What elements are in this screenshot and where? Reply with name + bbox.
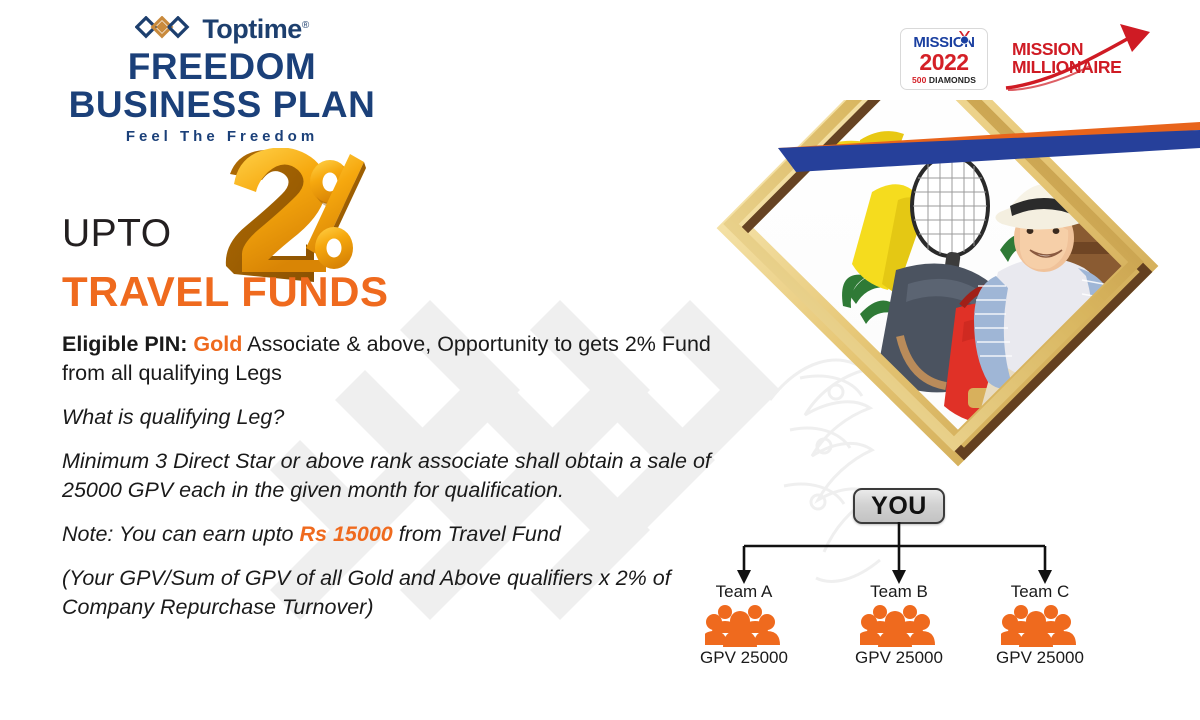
registered-mark: ® bbox=[302, 20, 309, 31]
mission-2022-year: 2022 bbox=[919, 50, 968, 74]
mm-line1: MISSION bbox=[1012, 40, 1121, 58]
eligible-pin-value: Gold bbox=[193, 332, 242, 356]
qualifying-leg-question: What is qualifying Leg? bbox=[62, 403, 742, 432]
toptime-diamonds-icon bbox=[135, 16, 197, 42]
plan-title-line2: BUSINESS PLAN bbox=[52, 86, 392, 123]
tree-node-team-a: Team A GPV 25000 bbox=[679, 583, 809, 666]
toptime-wordmark: Toptime® bbox=[202, 16, 308, 43]
earnings-note: Note: You can earn upto Rs 15000 from Tr… bbox=[62, 520, 742, 549]
team-group-icon bbox=[1001, 603, 1079, 647]
travel-photo-graphic bbox=[700, 100, 1200, 530]
downline-tree: YOU Team A bbox=[700, 488, 1120, 678]
qualification-rule: Minimum 3 Direct Star or above rank asso… bbox=[62, 447, 742, 505]
body-copy: Eligible PIN: Gold Associate & above, Op… bbox=[62, 330, 742, 637]
team-group-icon bbox=[860, 603, 938, 647]
you-node: YOU bbox=[853, 488, 945, 524]
tree-node-team-b: Team B GPV 25000 bbox=[834, 583, 964, 666]
payout-formula: (Your GPV/Sum of GPV of all Gold and Abo… bbox=[62, 564, 742, 622]
team-a-title: Team A bbox=[679, 583, 809, 600]
note-amount: Rs 15000 bbox=[299, 522, 392, 546]
medal-icon bbox=[959, 31, 970, 45]
slide-canvas: Toptime® FREEDOM BUSINESS PLAN Feel The … bbox=[0, 0, 1200, 720]
mission-millionaire-logo: MISSION MILLIONAIRE bbox=[1004, 22, 1154, 92]
gold-2-percent-icon bbox=[208, 148, 368, 283]
you-label: YOU bbox=[871, 494, 927, 519]
mission-2022-diamonds: 500 DIAMONDS bbox=[912, 76, 976, 85]
team-group-icon bbox=[705, 603, 783, 647]
team-a-gpv: GPV 25000 bbox=[679, 649, 809, 666]
headline-percent bbox=[208, 148, 368, 283]
tree-node-team-c: Team C GPV 25000 bbox=[975, 583, 1105, 666]
plan-tagline: Feel The Freedom bbox=[52, 128, 392, 145]
headline-upto: UPTO bbox=[62, 212, 172, 256]
plan-title-line1: FREEDOM bbox=[52, 48, 392, 85]
brand-block: Toptime® FREEDOM BUSINESS PLAN Feel The … bbox=[52, 14, 392, 145]
headline-travel-funds: TRAVEL FUNDS bbox=[62, 268, 388, 316]
note-prefix: Note: You can earn upto bbox=[62, 522, 299, 546]
mission-2022-word: MISSION bbox=[913, 35, 974, 50]
mission-millionaire-text: MISSION MILLIONAIRE bbox=[1012, 40, 1121, 76]
team-c-title: Team C bbox=[975, 583, 1105, 600]
travel-photo-frame bbox=[700, 100, 1200, 530]
eligible-pin-paragraph: Eligible PIN: Gold Associate & above, Op… bbox=[62, 330, 742, 388]
team-c-gpv: GPV 25000 bbox=[975, 649, 1105, 666]
note-suffix: from Travel Fund bbox=[393, 522, 561, 546]
eligible-pin-label: Eligible PIN: bbox=[62, 332, 187, 356]
mm-line2: MILLIONAIRE bbox=[1012, 58, 1121, 76]
team-b-title: Team B bbox=[834, 583, 964, 600]
toptime-logo: Toptime® bbox=[52, 14, 392, 44]
mission-2022-badge: MISSION 2022 500 DIAMONDS bbox=[900, 28, 988, 90]
team-b-gpv: GPV 25000 bbox=[834, 649, 964, 666]
